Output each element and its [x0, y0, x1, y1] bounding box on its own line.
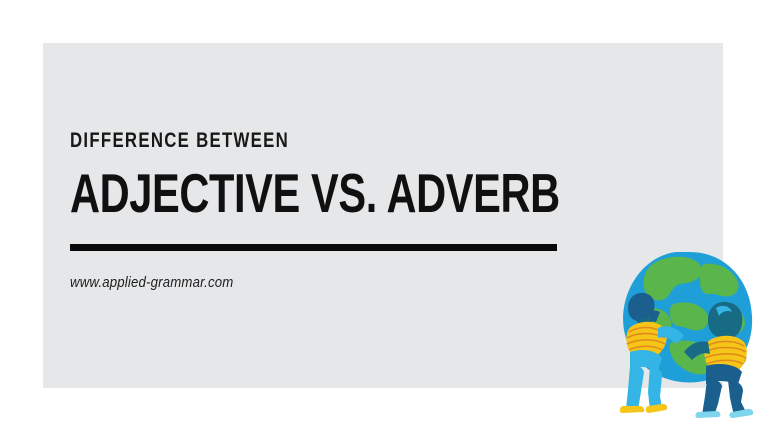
site-url-label: www.applied-grammar.com [70, 275, 510, 290]
page-title: ADJECTIVE VS. ADVERB [70, 166, 470, 221]
title-divider [70, 244, 557, 251]
title-banner: DIFFERENCE BETWEEN ADJECTIVE VS. ADVERB … [0, 0, 768, 432]
text-block: DIFFERENCE BETWEEN ADJECTIVE VS. ADVERB … [70, 130, 570, 290]
eyebrow-label: DIFFERENCE BETWEEN [70, 130, 470, 151]
globe-illustration [612, 246, 768, 418]
